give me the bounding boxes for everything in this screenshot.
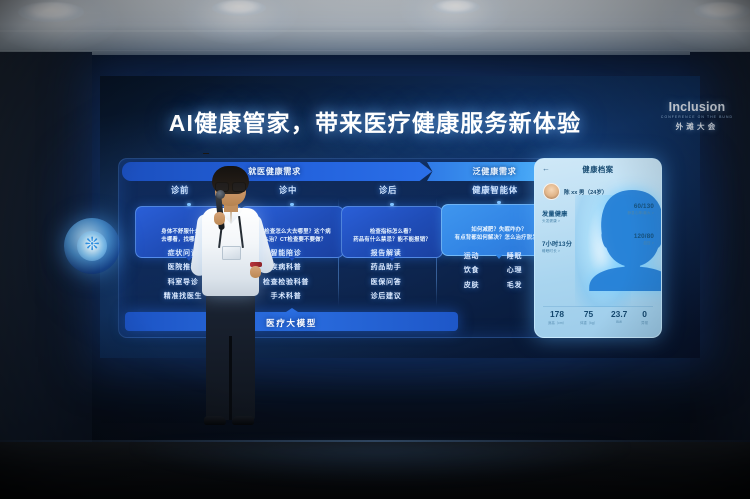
ceiling-light	[18, 2, 84, 22]
stat-value: 178	[548, 309, 566, 319]
speaker-left-shoe	[204, 416, 226, 425]
stat-label: 异常	[641, 320, 648, 325]
stage-reflection	[120, 444, 640, 484]
stat-value: 23.7	[611, 309, 627, 319]
phone-metric-heart-rate[interactable]: 60/130 静息心率/最大 >	[627, 203, 654, 216]
phone-screen-title: 健康档案	[535, 165, 661, 175]
stat-height: 178 身高（cm）	[548, 309, 566, 325]
list-item: 皮肤	[450, 279, 493, 293]
metric-value: 120/80	[634, 233, 654, 240]
bubble-dot-icon	[390, 203, 393, 206]
metric-label: 血压 >	[634, 241, 654, 246]
venue-logo: Inclusion CONFERENCE ON THE BUND 外滩大会	[656, 100, 738, 132]
speaker-left-hand	[214, 212, 225, 225]
column-items-post: 报告解读 药品助手 医保问答 诊后建议	[341, 247, 431, 304]
speaker-badge	[222, 246, 241, 260]
bubble-post-text: 检查指标怎么看？ 药品有什么禁忌？能不能报销？	[353, 229, 431, 243]
phone-stats-row: 178 身高（cm） 75 体重（kg） 23.7 BMI 0 异常	[535, 309, 661, 325]
venue-logo-tagline: CONFERENCE ON THE BUND	[656, 115, 738, 119]
metric-label: 睡眠时长 >	[542, 249, 572, 254]
page-title: AI健康管家，带来医疗健康服务新体验	[0, 104, 750, 138]
metric-label: 静息心率/最大 >	[627, 211, 654, 216]
column-items-agent: 运动 睡眠 饮食 心理 皮肤 毛发	[450, 250, 536, 293]
column-title-post: 诊后	[340, 184, 436, 196]
bubble-dot-icon	[290, 203, 293, 206]
stat-value: 75	[580, 309, 597, 319]
list-item: 报告解读	[341, 247, 431, 261]
list-item: 心理	[493, 264, 536, 278]
metric-label: 头发健康 >	[542, 219, 568, 224]
venue-logo-brand-cn: 外滩大会	[656, 121, 738, 132]
ceiling-light	[694, 2, 750, 20]
metric-value: 60/130	[627, 203, 654, 210]
microphone-head-icon	[216, 190, 225, 199]
health-record-phone-mockup: ← 健康档案 陈 xx 男（24岁） 👤 发量健康 头发健康 > 7小时13分 …	[534, 158, 662, 338]
divider	[543, 306, 653, 307]
emblem-glyph-icon: ❊	[64, 234, 120, 255]
speaker-right-hand	[250, 266, 261, 278]
list-item: 医保问答	[341, 276, 431, 290]
list-item: 睡眠	[493, 250, 536, 264]
list-item: 诊后建议	[341, 290, 431, 304]
foundation-model-label: 医疗大模型	[125, 317, 458, 329]
stat-bmi: 23.7 BMI	[611, 309, 627, 325]
bubble-agent-text: 如何减肥？失眠咋办？ 有点背都如何解决？怎么治疗脱发？	[455, 227, 544, 241]
body-silhouette-graphic: 👤	[575, 195, 631, 307]
bar-notch-icon	[286, 308, 298, 312]
phone-metric-blood-pressure[interactable]: 120/80 血压 >	[634, 233, 654, 246]
speaker-person	[190, 150, 270, 450]
glasses-icon	[215, 182, 246, 190]
ceiling-beam	[0, 50, 750, 51]
stat-weight: 75 体重（kg）	[580, 309, 597, 325]
phone-top-bar: ← 健康档案	[535, 159, 661, 179]
phone-metric-hair[interactable]: 发量健康 头发健康 >	[542, 209, 568, 224]
glasses-bridge	[203, 153, 209, 154]
metric-value: 7小时13分	[542, 239, 572, 248]
header-segment-medical-label: 就医健康需求	[122, 165, 427, 177]
stat-label: BMI	[611, 320, 627, 324]
phone-metric-sleep[interactable]: 7小时13分 睡眠时长 >	[542, 239, 572, 254]
human-body-icon: 👤	[575, 195, 631, 287]
list-item: 毛发	[493, 279, 536, 293]
presentation-photo: AI健康管家，带来医疗健康服务新体验 Inclusion CONFERENCE …	[0, 0, 750, 499]
stat-abnormal: 0 异常	[641, 309, 648, 325]
list-item: 药品助手	[341, 261, 431, 275]
metric-value: 发量健康	[542, 209, 568, 218]
list-item: 运动	[450, 250, 493, 264]
bubble-dot-icon	[497, 201, 500, 204]
stat-value: 0	[641, 309, 648, 319]
foundation-model-bar: 医疗大模型	[125, 312, 458, 331]
avatar	[543, 183, 560, 200]
speaker-leg-split	[229, 336, 232, 420]
health-emblem-icon: ❊	[64, 218, 120, 274]
stat-label: 身高（cm）	[548, 320, 566, 325]
ceiling-light	[432, 0, 480, 14]
ceiling-light	[212, 0, 266, 16]
speaker-right-shoe	[232, 416, 254, 425]
stat-label: 体重（kg）	[580, 320, 597, 325]
venue-logo-brand: Inclusion	[656, 100, 738, 114]
list-item: 饮食	[450, 264, 493, 278]
